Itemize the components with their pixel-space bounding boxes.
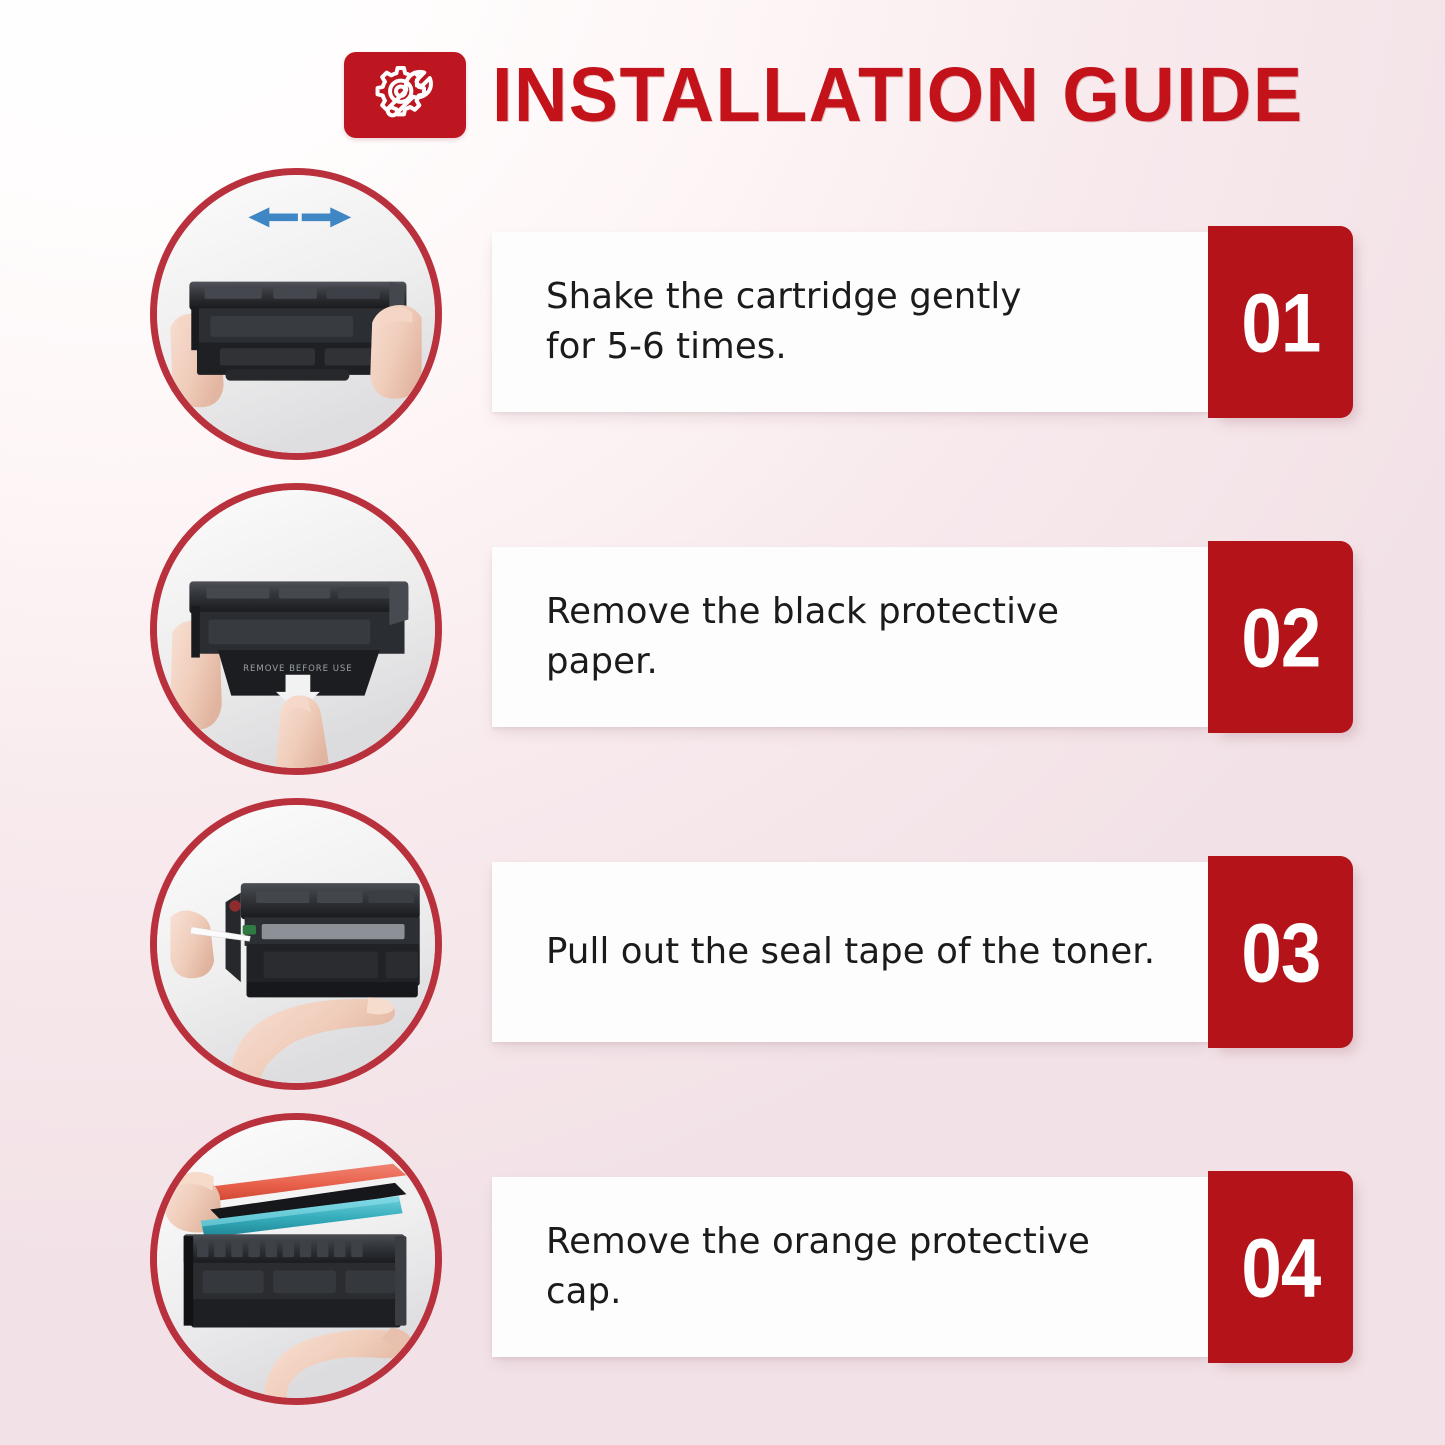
step-number: 03 (1241, 910, 1320, 994)
step-photo (150, 798, 442, 1090)
page-header: INSTALLATION GUIDE (344, 52, 1337, 138)
svg-text:REMOVE BEFORE USE: REMOVE BEFORE USE (243, 664, 352, 674)
photo-ring: REMOVE BEFORE USE (150, 483, 442, 775)
step-description-line2: for 5-6 times. (546, 323, 1180, 371)
shake-cartridge-illustration (157, 175, 435, 453)
step-description-line1: Pull out the seal tape of the toner. (546, 928, 1180, 976)
step-photo: REMOVE BEFORE USE (150, 483, 442, 775)
remove-orange-cap-illustration (157, 1120, 435, 1398)
step-number: 02 (1241, 595, 1320, 679)
step-item: REMOVE BEFORE USE (0, 475, 1445, 790)
step-number-badge: 01 (1208, 226, 1353, 418)
step-item: Pull out the seal tape of the toner. 03 (0, 790, 1445, 1105)
step-item: Remove the orange protective cap. 04 (0, 1105, 1445, 1420)
step-card: Remove the orange protective cap. (492, 1177, 1210, 1357)
step-card: Remove the black protective paper. (492, 547, 1210, 727)
step-card: Pull out the seal tape of the toner. (492, 862, 1210, 1042)
photo-ring (150, 798, 442, 1090)
step-number: 04 (1241, 1225, 1320, 1309)
step-item: Shake the cartridge gently for 5-6 times… (0, 160, 1445, 475)
step-description-line1: Shake the cartridge gently (546, 273, 1180, 321)
pull-seal-tape-illustration (157, 805, 435, 1083)
step-card: Shake the cartridge gently for 5-6 times… (492, 232, 1210, 412)
step-description-line2: cap. (546, 1268, 1180, 1316)
step-photo (150, 168, 442, 460)
step-description: Shake the cartridge gently for 5-6 times… (546, 232, 1180, 412)
step-description: Pull out the seal tape of the toner. (546, 862, 1180, 1042)
step-number-badge: 02 (1208, 541, 1353, 733)
step-description: Remove the black protective paper. (546, 547, 1180, 727)
page-title: INSTALLATION GUIDE (492, 57, 1304, 134)
step-description: Remove the orange protective cap. (546, 1177, 1180, 1357)
step-photo (150, 1113, 442, 1405)
installation-guide-page: INSTALLATION GUIDE (0, 0, 1445, 1445)
step-description-line1: Remove the orange protective (546, 1218, 1180, 1266)
gear-wrench-icon (344, 52, 466, 138)
step-number: 01 (1241, 280, 1320, 364)
step-description-line2: paper. (546, 638, 1180, 686)
photo-ring (150, 168, 442, 460)
photo-ring (150, 1113, 442, 1405)
step-description-line1: Remove the black protective (546, 588, 1180, 636)
remove-black-paper-illustration: REMOVE BEFORE USE (157, 490, 435, 768)
step-number-badge: 04 (1208, 1171, 1353, 1363)
step-number-badge: 03 (1208, 856, 1353, 1048)
